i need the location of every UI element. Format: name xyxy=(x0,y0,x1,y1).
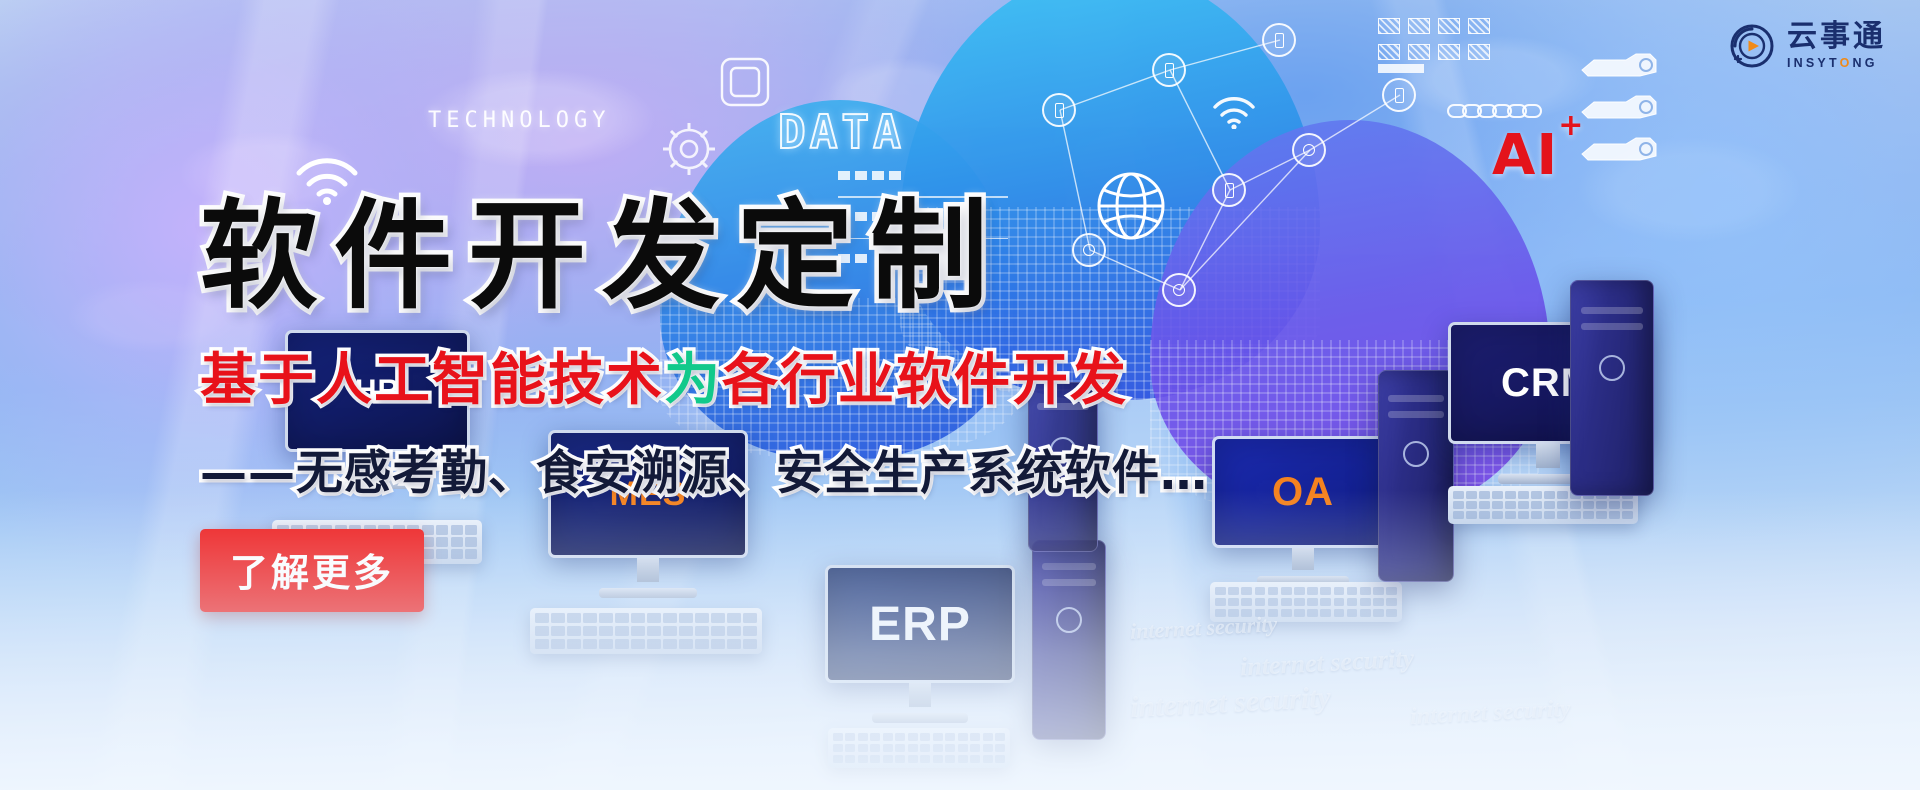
wifi-icon-small xyxy=(1212,95,1256,129)
hero-tagline: ——无感考勤、食安溯源、安全生产系统软件… xyxy=(200,434,1260,503)
chip-grid-icon xyxy=(1378,18,1488,78)
network-node-user xyxy=(1292,133,1326,167)
page-title: 软件开发定制 xyxy=(200,195,1260,319)
hero-banner: HR MES ERP OA xyxy=(0,0,1920,790)
tech-pod-icon xyxy=(1580,52,1658,78)
chain-link-icon xyxy=(1452,104,1542,118)
tech-pod-icon xyxy=(1580,136,1658,162)
pc-tower-middle xyxy=(1378,370,1454,582)
network-node-device xyxy=(1262,23,1296,57)
floating-word-technology: TECHNOLOGY xyxy=(428,108,610,133)
circle-play-icon xyxy=(1729,23,1775,69)
logo-en-part2: NG xyxy=(1853,56,1878,70)
network-node-device xyxy=(1382,78,1416,112)
watermark-text: internet security xyxy=(1239,643,1414,682)
hero-subtitle: 基于人工智能技术为各行业软件开发 xyxy=(200,335,1260,416)
tech-pod-icons xyxy=(1580,52,1658,162)
subtitle-highlight: 为 xyxy=(664,348,722,413)
chip-frame-icon xyxy=(718,55,772,109)
keyboard-mes xyxy=(530,608,762,654)
logo-en-part1: INSYT xyxy=(1787,56,1840,70)
watermark-text: internet security xyxy=(1129,681,1331,725)
gear-icon xyxy=(660,120,718,178)
floating-word-ai: AI+ xyxy=(1492,123,1584,188)
subtitle-part-2: 各行业软件开发 xyxy=(722,348,1128,413)
network-node-device xyxy=(1152,53,1186,87)
watermark-text: internet security xyxy=(1409,696,1571,731)
logo-name-cn: 云事通 xyxy=(1787,22,1886,52)
logo-en-accent: O xyxy=(1840,56,1853,70)
tech-pod-icon xyxy=(1580,94,1658,120)
brand-logo[interactable]: 云事通 INSYTONG xyxy=(1729,22,1886,70)
learn-more-button[interactable]: 了解更多 xyxy=(200,529,424,612)
logo-name-en: INSYTONG xyxy=(1787,57,1886,70)
subtitle-part-1: 基于人工智能技术 xyxy=(200,348,664,413)
network-node-device xyxy=(1042,93,1076,127)
hero-copy-block: 软件开发定制 基于人工智能技术为各行业软件开发 ——无感考勤、食安溯源、安全生产… xyxy=(200,195,1260,612)
keyboard-erp xyxy=(828,728,1010,768)
logo-text: 云事通 INSYTONG xyxy=(1787,22,1886,70)
ai-plus-superscript: + xyxy=(1558,108,1584,143)
pc-tower-right xyxy=(1570,280,1654,496)
floating-word-data: DATA xyxy=(778,105,905,159)
ai-text: AI xyxy=(1492,123,1558,188)
